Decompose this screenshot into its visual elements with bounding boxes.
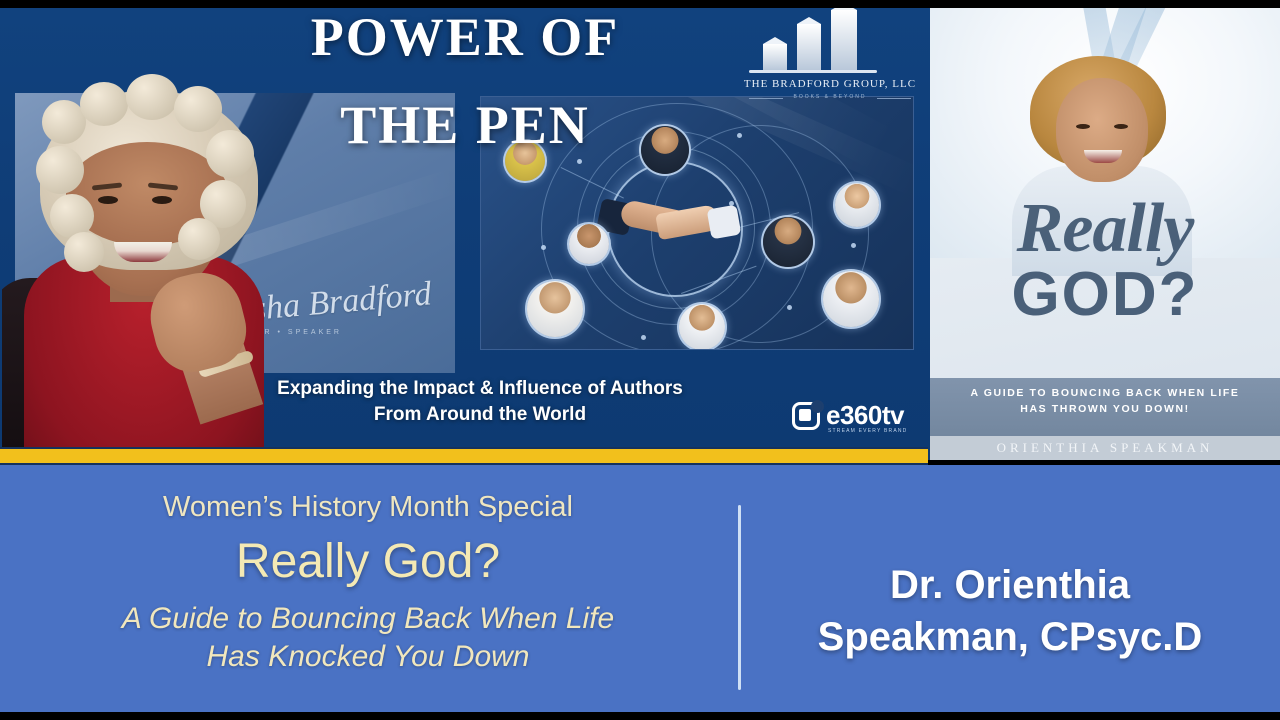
promo-title-line2: THE PEN: [230, 100, 700, 152]
book-subtitle-line1: A GUIDE TO BOUNCING BACK WHEN LIFE: [930, 386, 1280, 402]
book-cover: Really GOD? A GUIDE TO BOUNCING BACK WHE…: [930, 8, 1280, 460]
lower-banner-right: Dr. Orienthia Speakman, CPsyc.D: [760, 465, 1280, 712]
hair-curl: [178, 218, 220, 260]
network-dot: [641, 335, 646, 340]
hair-curl: [64, 232, 104, 272]
network-person-avatar: [821, 269, 881, 329]
network-person-avatar: [761, 215, 815, 269]
yellow-divider-bar: [0, 447, 928, 465]
book-title-block: GOD?: [944, 264, 1266, 326]
promo-title: POWER OF THE PEN: [230, 12, 700, 152]
host-eye: [152, 196, 172, 204]
guest-name-line2: Speakman, CPsyc.D: [760, 611, 1260, 663]
episode-subtitle-line2: Has Knocked You Down: [0, 638, 736, 676]
lower-third-banner: Women’s History Month Special Really God…: [0, 465, 1280, 712]
book-author-face: [1056, 78, 1148, 182]
promo-tagline: Expanding the Impact & Influence of Auth…: [200, 376, 760, 428]
book-subtitle: A GUIDE TO BOUNCING BACK WHEN LIFE HAS T…: [930, 386, 1280, 418]
lower-banner-left: Women’s History Month Special Really God…: [0, 465, 736, 712]
hair-curl: [80, 82, 128, 126]
building-icon: [763, 44, 787, 70]
letterbox-bottom-bar: [0, 712, 1280, 720]
book-author-eye: [1076, 124, 1090, 129]
network-dot: [737, 133, 742, 138]
letterbox-top-bar: [0, 0, 1280, 8]
network-dot: [851, 243, 856, 248]
network-person-avatar: [525, 279, 585, 339]
e360tv-wordmark: e360tv: [826, 400, 904, 431]
hair-curl: [36, 146, 84, 194]
host-eye: [98, 196, 118, 204]
promo-tagline-line2: From Around the World: [200, 402, 760, 428]
guest-name: Dr. Orienthia Speakman, CPsyc.D: [760, 559, 1260, 663]
banner-vertical-divider: [738, 505, 741, 690]
network-person-avatar: [833, 181, 881, 229]
bradford-logo-name: THE BRADFORD GROUP, LLC: [735, 78, 925, 90]
guest-name-line1: Dr. Orienthia: [760, 559, 1260, 611]
special-kicker: Women’s History Month Special: [0, 491, 736, 524]
promo-tagline-line1: Expanding the Impact & Influence of Auth…: [200, 376, 760, 402]
book-author-name: ORIENTHIA SPEAKMAN: [930, 440, 1280, 456]
network-dot: [541, 245, 546, 250]
handshake-cuff-right: [707, 205, 742, 240]
book-title-script: Really: [944, 194, 1266, 264]
building-icon: [831, 10, 857, 70]
broadcast-lower-third-screen: Marsha Bradford AUTHOR • SPEAKER: [0, 0, 1280, 720]
episode-subtitle: A Guide to Bouncing Back When Life Has K…: [0, 600, 736, 677]
promo-title-line1: POWER OF: [230, 12, 700, 64]
hair-curl: [174, 86, 222, 132]
e360tv-tagline: STREAM EVERY BRAND: [828, 428, 908, 434]
network-dot: [787, 305, 792, 310]
episode-subtitle-line1: A Guide to Bouncing Back When Life: [0, 600, 736, 638]
book-author-eye: [1114, 124, 1128, 129]
logo-baseline: [749, 70, 877, 73]
bradford-logo-tagline: BOOKS & BEYOND: [735, 94, 925, 100]
network-person-avatar: [677, 302, 727, 350]
e360tv-logo: e360tv STREAM EVERY BRAND: [792, 398, 922, 440]
network-person-avatar: [567, 222, 611, 266]
bradford-group-logo: THE BRADFORD GROUP, LLC BOOKS & BEYOND: [735, 16, 925, 102]
book-subtitle-line2: HAS THROWN YOU DOWN!: [930, 402, 1280, 418]
episode-title: Really God?: [0, 534, 736, 589]
e360tv-play-icon: [792, 402, 820, 430]
network-dot: [577, 159, 582, 164]
building-icon: [797, 24, 821, 70]
hair-curl: [126, 74, 178, 120]
